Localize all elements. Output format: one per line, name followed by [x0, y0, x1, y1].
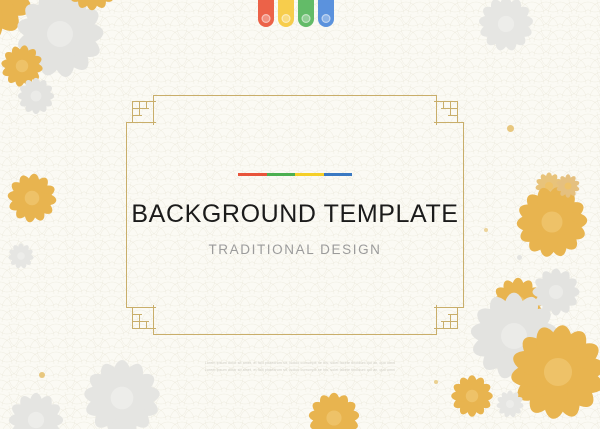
tab-yellow-emblem-icon	[282, 14, 291, 23]
segment-green	[267, 173, 296, 176]
flower-gray-bottom-left	[6, 390, 66, 429]
accent-color-line	[238, 173, 352, 176]
flower-gray-mid-left-tiny	[7, 242, 35, 270]
tab-yellow[interactable]	[278, 0, 294, 27]
microcopy-block: Lorem ipsum dolor sit amet, et falli pha…	[0, 360, 600, 373]
flower-gold-bottom-right-sm	[449, 373, 495, 419]
flower-gray-top-right	[476, 0, 536, 54]
page-subtitle: TRADITIONAL DESIGN	[208, 243, 381, 257]
dot-gold-upper-right	[507, 125, 514, 132]
tab-green[interactable]	[298, 0, 314, 27]
microcopy-line-2: Lorem ipsum dolor sit amet, et falli pha…	[0, 367, 600, 374]
segment-yellow	[295, 173, 324, 176]
dot-gold-frame-right	[484, 228, 488, 232]
flower-gray-left-small	[16, 76, 56, 116]
microcopy-line-1: Lorem ipsum dolor sit amet, et falli pha…	[0, 360, 600, 367]
dot-gold-bottom	[434, 380, 439, 385]
center-content: BACKGROUND TEMPLATE TRADITIONAL DESIGN	[126, 95, 464, 335]
segment-red	[238, 173, 267, 176]
template-canvas: BACKGROUND TEMPLATE TRADITIONAL DESIGN L…	[0, 0, 600, 429]
flower-gold-bottom-center	[306, 390, 362, 429]
flower-gold-top-mid-small	[63, 0, 121, 13]
flower-gold-right-spark	[555, 173, 581, 199]
tab-red[interactable]	[258, 0, 274, 27]
tab-blue[interactable]	[318, 0, 334, 27]
flower-gold-mid-left	[5, 171, 59, 225]
tab-blue-emblem-icon	[322, 14, 331, 23]
color-tab-strip	[258, 0, 334, 27]
tab-green-emblem-icon	[302, 14, 311, 23]
dot-gray-mid-right	[517, 255, 522, 260]
segment-blue	[324, 173, 353, 176]
page-title: BACKGROUND TEMPLATE	[131, 202, 458, 227]
tab-red-emblem-icon	[262, 14, 271, 23]
flower-gray-bottom-right-sm	[495, 389, 525, 419]
